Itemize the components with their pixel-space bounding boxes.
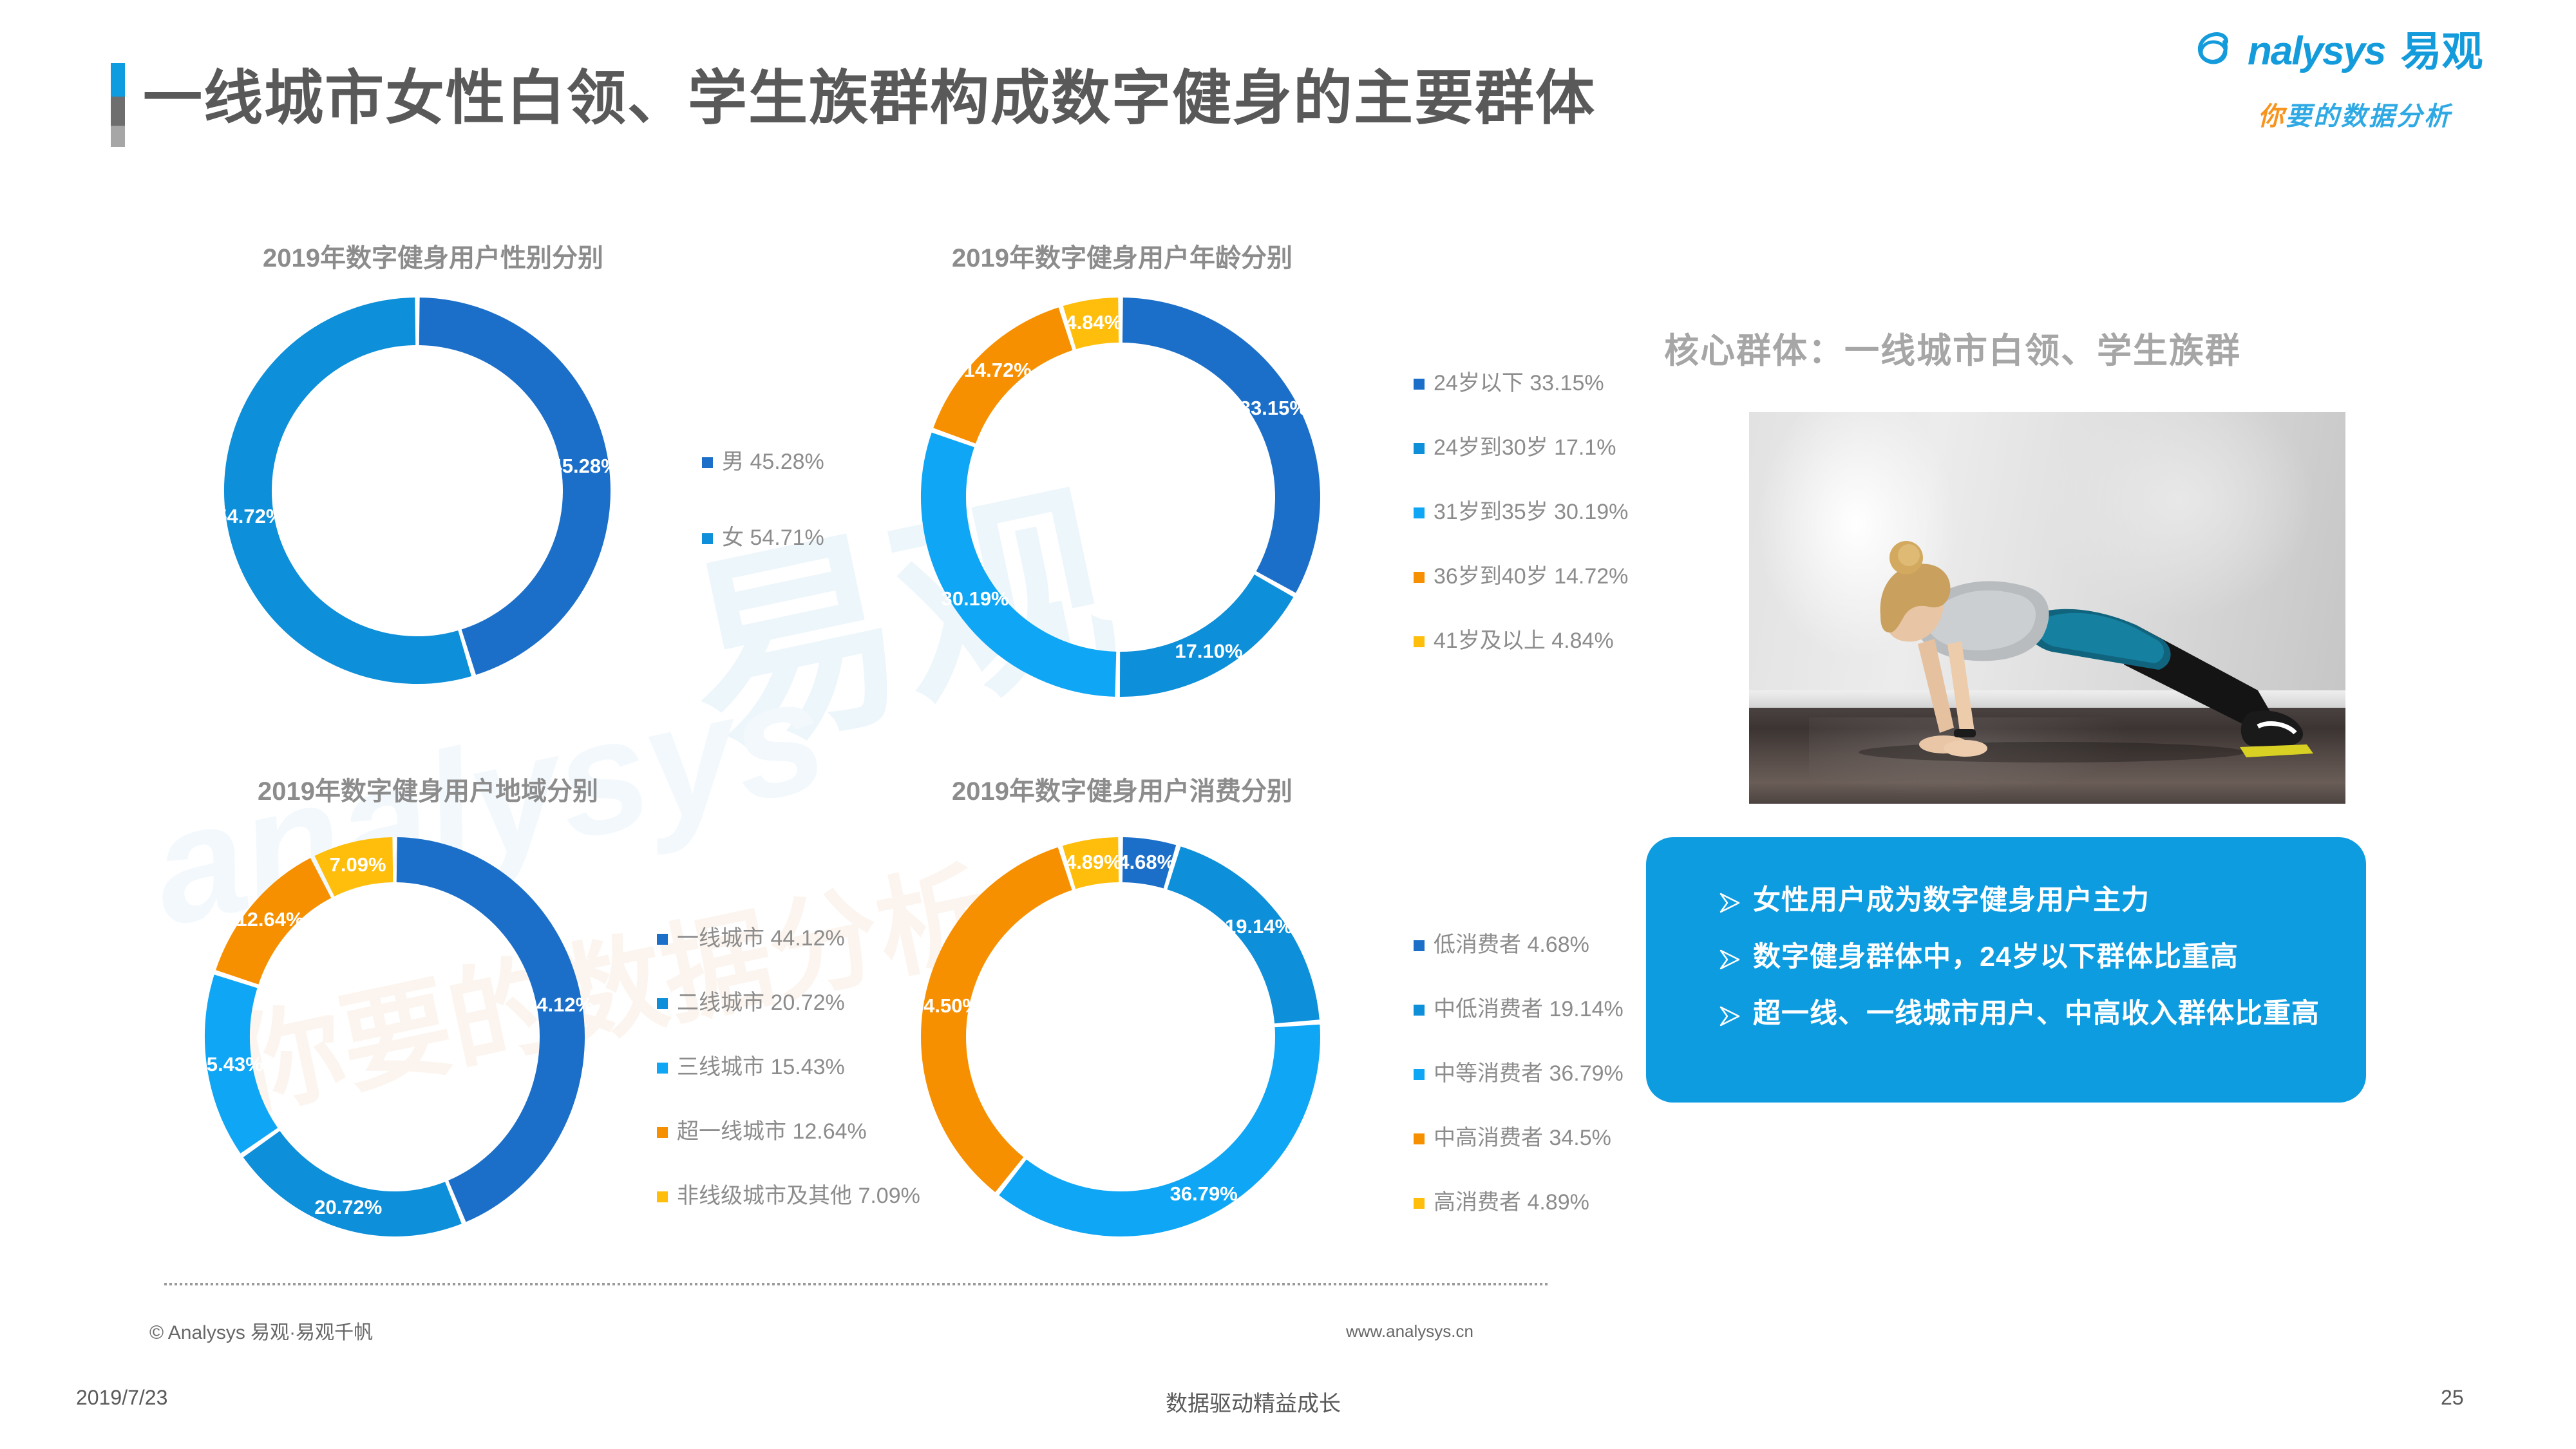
legend-color-swatch-icon: [1414, 507, 1425, 518]
callout-bullet-text: 数字健身群体中，24岁以下群体比重高: [1753, 943, 2239, 972]
logo-tagline: 你要的数据分析: [2258, 95, 2452, 133]
donut-slice-label: 19.14%: [1225, 915, 1293, 938]
legend-region: 一线城市 44.12%二线城市 20.72%三线城市 15.43%超一线城市 1…: [657, 927, 920, 1249]
legend-item-label: 中低消费者 19.14%: [1434, 998, 1624, 1020]
legend-color-swatch-icon: [1414, 443, 1425, 454]
legend-color-swatch-icon: [1414, 940, 1425, 951]
legend-item: 31岁到35岁 30.19%: [1414, 501, 1628, 523]
donut-slice-label: 34.50%: [913, 994, 980, 1017]
legend-item-label: 中高消费者 34.5%: [1434, 1127, 1611, 1149]
callout-bullet: 数字健身群体中，24岁以下群体比重高: [1717, 943, 2348, 974]
donut-slice-label: 17.10%: [1175, 639, 1242, 662]
legend-color-swatch-icon: [657, 934, 668, 945]
legend-item-label: 男 45.28%: [722, 451, 824, 473]
fitness-photo: [1749, 412, 2345, 804]
logo-chinese-name: 易观: [2401, 31, 2483, 72]
legend-color-swatch-icon: [657, 1063, 668, 1074]
donut-slice: [943, 440, 1115, 674]
donut-chart-region: 44.12%20.72%15.43%12.64%7.09%: [205, 837, 585, 1236]
analysys-logo: nalysys 易观 你要的数据分析: [2196, 31, 2531, 144]
legend-item: 36岁到40岁 14.72%: [1414, 565, 1628, 587]
chart-title-gender: 2019年数字健身用户性别分别: [263, 237, 603, 274]
donut-slice: [954, 329, 1065, 436]
legend-item-label: 一线城市 44.12%: [677, 927, 845, 949]
donut-slice: [419, 321, 587, 652]
legend-color-swatch-icon: [657, 998, 668, 1009]
legend-item-label: 超一线城市 12.64%: [677, 1121, 867, 1142]
title-accent-bar: [111, 63, 125, 147]
legend-item: 24岁到30岁 17.1%: [1414, 437, 1628, 459]
donut-chart-age: 33.15%17.10%30.19%14.72%4.84%: [921, 298, 1320, 697]
donut-slice-label: 12.64%: [236, 908, 303, 931]
legend-color-swatch-icon: [1414, 1133, 1425, 1144]
legend-age: 24岁以下 33.15%24岁到30岁 17.1%31岁到35岁 30.19%3…: [1414, 372, 1628, 694]
donut-slice-label: 4.68%: [1118, 851, 1175, 873]
analysys-swirl-icon: [2196, 32, 2239, 71]
website-url: www.analysys.cn: [1346, 1321, 1473, 1341]
donut-slice-label: 4.84%: [1065, 311, 1122, 334]
legend-item-label: 41岁及以上 4.84%: [1434, 630, 1614, 652]
logo-tagline-first-char: 你: [2258, 102, 2286, 131]
legend-item: 中等消费者 36.79%: [1414, 1063, 1624, 1084]
page-title: 一线城市女性白领、学生族群构成数字健身的主要群体: [143, 50, 1596, 136]
callout-bullet-text: 女性用户成为数字健身用户主力: [1753, 886, 2150, 915]
legend-item-label: 高消费者 4.89%: [1434, 1191, 1589, 1213]
arrow-bullet-icon: [1717, 1002, 1743, 1030]
legend-item-label: 女 54.71%: [722, 527, 824, 549]
legend-item-label: 低消费者 4.68%: [1434, 934, 1589, 956]
legend-item: 超一线城市 12.64%: [657, 1121, 920, 1142]
donut-chart-gender: 45.28%54.72%: [224, 298, 611, 684]
donut-slice-label: 44.12%: [526, 993, 593, 1016]
legend-item-label: 中等消费者 36.79%: [1434, 1063, 1624, 1084]
donut-slice: [248, 321, 465, 660]
legend-item: 三线城市 15.43%: [657, 1056, 920, 1078]
legend-color-swatch-icon: [657, 1127, 668, 1138]
legend-item: 高消费者 4.89%: [1414, 1191, 1624, 1213]
legend-item: 男 45.28%: [702, 451, 824, 473]
legend-item: 中低消费者 19.14%: [1414, 998, 1624, 1020]
legend-color-swatch-icon: [1414, 572, 1425, 583]
chart-title-age: 2019年数字健身用户年龄分别: [952, 237, 1293, 274]
legend-color-swatch-icon: [1414, 1198, 1425, 1209]
legend-item: 低消费者 4.68%: [1414, 934, 1624, 956]
footer-date: 2019/7/23: [76, 1386, 167, 1410]
donut-slice-label: 20.72%: [314, 1196, 382, 1218]
key-insights-callout: 女性用户成为数字健身用户主力数字健身群体中，24岁以下群体比重高超一线、一线城市…: [1646, 837, 2366, 1103]
donut-slice-label: 33.15%: [1240, 397, 1307, 419]
footer-slogan: 数据驱动精益成长: [1166, 1386, 1341, 1417]
donut-slice-label: 54.72%: [216, 505, 283, 527]
legend-item: 非线级城市及其他 7.09%: [657, 1185, 920, 1207]
legend-item-label: 24岁到30岁 17.1%: [1434, 437, 1616, 459]
callout-bullet-text: 超一线、一线城市用户、中高收入群体比重高: [1753, 999, 2320, 1028]
donut-slice: [1174, 868, 1297, 1021]
donut-slice: [1013, 1026, 1298, 1214]
legend-item-label: 二线城市 20.72%: [677, 992, 845, 1014]
callout-bullet: 超一线、一线城市用户、中高收入群体比重高: [1717, 999, 2348, 1030]
donut-slice-label: 4.89%: [1065, 851, 1122, 873]
core-group-heading: 核心群体：一线城市白领、学生族群: [1664, 322, 2241, 373]
logo-tagline-rest: 要的数据分析: [2286, 102, 2452, 131]
donut-slice-label: 7.09%: [330, 853, 386, 876]
callout-bullet: 女性用户成为数字健身用户主力: [1717, 886, 2348, 917]
legend-color-swatch-icon: [1414, 1005, 1425, 1016]
legend-gender: 男 45.28%女 54.71%: [702, 451, 824, 603]
donut-slice-label: 36.79%: [1170, 1182, 1238, 1205]
legend-item: 一线城市 44.12%: [657, 927, 920, 949]
donut-slice-label: 45.28%: [551, 455, 619, 477]
arrow-bullet-icon: [1717, 889, 1743, 917]
page-header: 一线城市女性白领、学生族群构成数字健身的主要群体 nalysys 易观 你要的数…: [0, 0, 2576, 193]
legend-item-label: 非线级城市及其他 7.09%: [677, 1185, 920, 1207]
legend-consumption: 低消费者 4.68%中低消费者 19.14%中等消费者 36.79%中高消费者 …: [1414, 934, 1624, 1256]
donut-slice-label: 15.43%: [195, 1053, 263, 1075]
legend-item-label: 三线城市 15.43%: [677, 1056, 845, 1078]
key-insights-list: 女性用户成为数字健身用户主力数字健身群体中，24岁以下群体比重高超一线、一线城市…: [1717, 886, 2348, 1056]
donut-slice: [397, 860, 562, 1201]
legend-item: 二线城市 20.72%: [657, 992, 920, 1014]
copyright-text: © Analysys 易观·易观千帆: [149, 1316, 373, 1345]
legend-item: 41岁及以上 4.84%: [1414, 630, 1628, 652]
legend-item: 女 54.71%: [702, 527, 824, 549]
footer-divider: [164, 1283, 1549, 1285]
legend-item-label: 24岁以下 33.15%: [1434, 372, 1604, 394]
arrow-bullet-icon: [1717, 945, 1743, 974]
legend-color-swatch-icon: [702, 533, 713, 544]
footer-page-number: 25: [2441, 1386, 2464, 1410]
donut-slice-label: 30.19%: [941, 587, 1009, 610]
chart-title-region: 2019年数字健身用户地域分别: [258, 770, 598, 808]
legend-color-swatch-icon: [1414, 379, 1425, 390]
legend-color-swatch-icon: [702, 457, 713, 468]
chart-title-consumption: 2019年数字健身用户消费分别: [952, 770, 1293, 808]
legend-color-swatch-icon: [657, 1191, 668, 1202]
legend-item-label: 36岁到40岁 14.72%: [1434, 565, 1628, 587]
legend-item-label: 31岁到35岁 30.19%: [1434, 501, 1628, 523]
donut-slice: [943, 869, 1065, 1175]
legend-item: 中高消费者 34.5%: [1414, 1127, 1624, 1149]
photo-figure: [1749, 412, 2345, 804]
logo-wordmark: nalysys: [2248, 32, 2385, 71]
legend-color-swatch-icon: [1414, 636, 1425, 647]
donut-slice-label: 14.72%: [964, 359, 1032, 381]
legend-item: 24岁以下 33.15%: [1414, 372, 1628, 394]
logo-main-row: nalysys 易观: [2196, 31, 2483, 72]
donut-chart-consumption: 4.68%19.14%36.79%34.50%4.89%: [921, 837, 1320, 1236]
legend-color-swatch-icon: [1414, 1069, 1425, 1080]
donut-slice: [1122, 320, 1298, 582]
